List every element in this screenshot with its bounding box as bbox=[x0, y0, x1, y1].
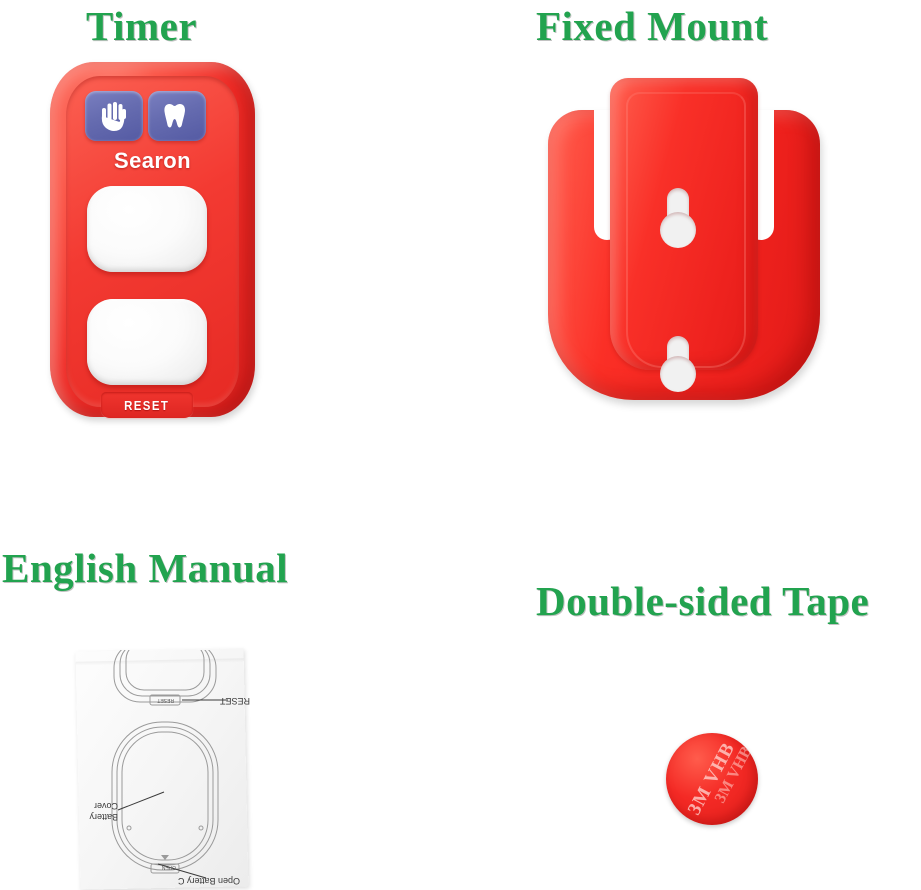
label-timer: Timer bbox=[86, 2, 197, 50]
timer-product-image: Searon RESET bbox=[50, 62, 255, 417]
upper-keyhole-circle bbox=[660, 212, 696, 248]
timer-reset-button[interactable]: RESET bbox=[101, 392, 193, 418]
timer-upper-press-button[interactable] bbox=[87, 186, 207, 272]
manual-battery-cover-line1: Battery bbox=[89, 811, 118, 822]
timer-reset-label: RESET bbox=[124, 398, 169, 413]
svg-text:RESET: RESET bbox=[157, 697, 174, 703]
manual-diagram: RESET OPEN Open Battery C Battery Cover … bbox=[78, 650, 246, 888]
timer-brand-text: Searon bbox=[50, 148, 255, 174]
manual-reset-text: RESET bbox=[220, 695, 250, 706]
fixed-mount-product-image bbox=[548, 78, 820, 400]
manual-open-battery-cover-text: Open Battery C bbox=[178, 875, 240, 886]
english-manual-product-image: RESET OPEN Open Battery C Battery Cover … bbox=[78, 650, 246, 888]
timer-tooth-button[interactable] bbox=[148, 91, 206, 141]
label-english-manual: English Manual bbox=[2, 544, 288, 592]
label-double-sided-tape: Double-sided Tape bbox=[536, 577, 869, 625]
tooth-icon bbox=[162, 101, 192, 131]
manual-battery-cover-line2: Cover bbox=[94, 800, 118, 811]
lower-keyhole-circle bbox=[660, 356, 696, 392]
svg-text:OPEN: OPEN bbox=[161, 864, 176, 870]
tape-disc: 3M VHB 3M VHB bbox=[666, 733, 758, 825]
double-sided-tape-product-image: 3M VHB 3M VHB bbox=[666, 733, 758, 825]
hand-icon bbox=[99, 101, 129, 132]
timer-lower-press-button[interactable] bbox=[87, 299, 207, 385]
timer-hand-button[interactable] bbox=[85, 91, 143, 141]
label-fixed-mount: Fixed Mount bbox=[536, 2, 768, 50]
